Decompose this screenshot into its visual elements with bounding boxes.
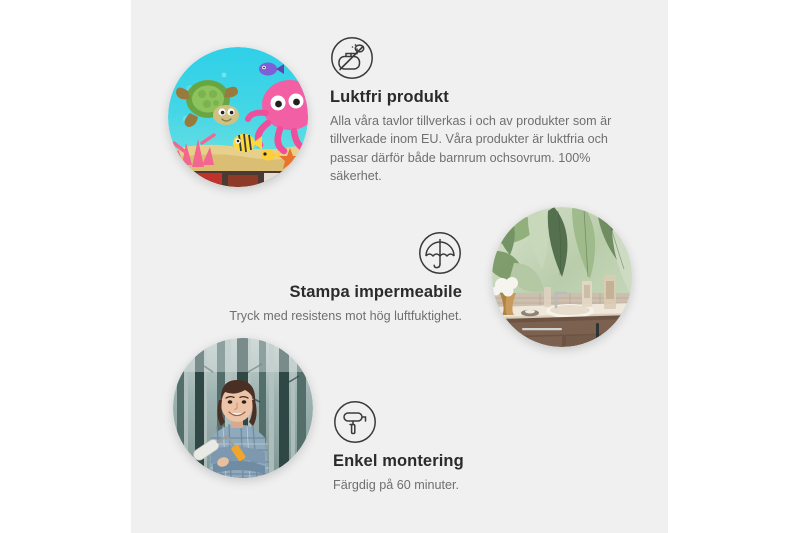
paint-roller-icon	[333, 400, 377, 444]
no-perfume-bottle-icon	[330, 36, 374, 80]
bathroom-illustration	[492, 207, 632, 347]
feature-title: Luktfri produkt	[330, 87, 630, 108]
umbrella-icon	[418, 231, 462, 275]
feature-title: Stampa impermeabile	[200, 282, 462, 303]
feature-waterproof: Stampa impermeabile Tryck med resistens …	[200, 231, 462, 325]
feature-assembly: Enkel montering Färgdig på 60 minuter.	[333, 400, 593, 494]
feature-description: Tryck med resistens mot hög luftfuktighe…	[200, 307, 462, 326]
feature-odourless: Luktfri produkt Alla våra tavlor tillver…	[330, 36, 630, 186]
photo-underwater[interactable]	[168, 47, 308, 187]
feature-description: Färgdig på 60 minuter.	[333, 476, 593, 495]
underwater-illustration	[168, 47, 308, 187]
feature-title: Enkel montering	[333, 451, 593, 472]
feature-description: Alla våra tavlor tillverkas i och av pro…	[330, 112, 630, 186]
page-root: Luktfri produkt Alla våra tavlor tillver…	[0, 0, 800, 533]
photo-bathroom[interactable]	[492, 207, 632, 347]
forest-painter-illustration	[173, 338, 313, 478]
photo-forest[interactable]	[173, 338, 313, 478]
